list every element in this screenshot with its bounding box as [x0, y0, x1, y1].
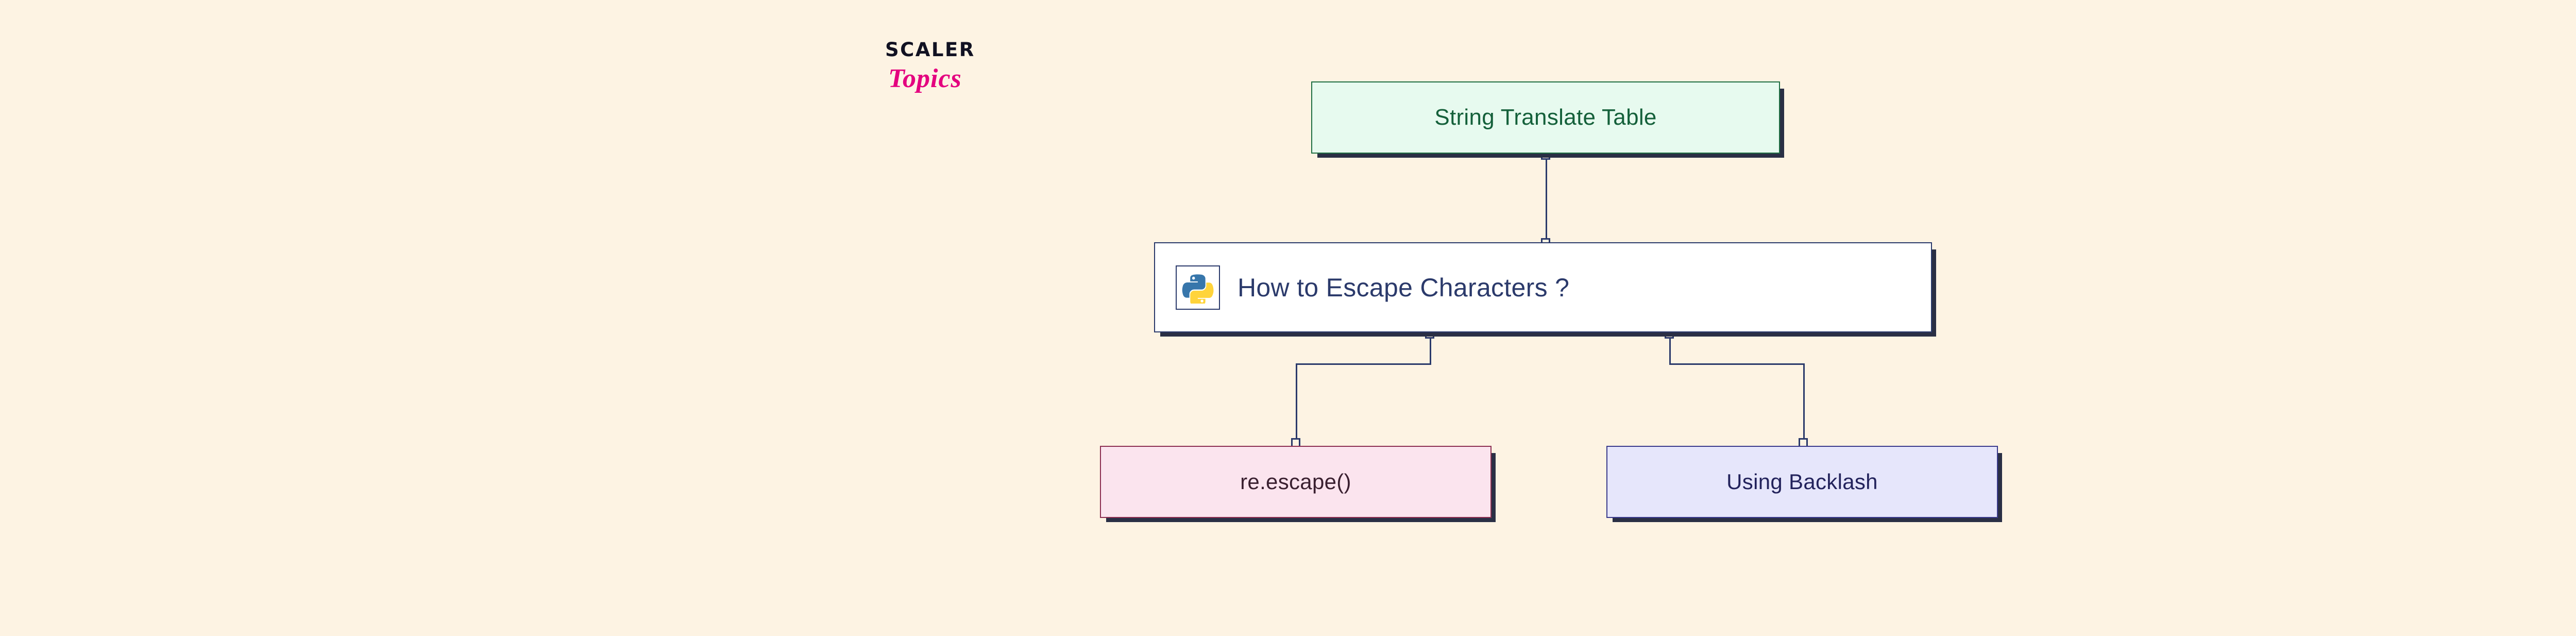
node-escape-label: re.escape()	[1240, 470, 1351, 494]
node-how-to-escape-characters[interactable]: How to Escape Characters ?	[1154, 242, 1932, 332]
node-string-translate-table[interactable]: String Translate Table	[1311, 81, 1780, 154]
shadow-backslash-bottom	[1613, 518, 2002, 522]
shadow-translate-right	[1780, 89, 1784, 158]
diagram-canvas: SCALER Topics String Translate Table How…	[0, 0, 2576, 636]
shadow-escape-bottom	[1106, 518, 1496, 522]
scaler-topics-logo: SCALER Topics	[885, 40, 1050, 107]
shadow-backslash-right	[1998, 453, 2002, 522]
node-main-label: How to Escape Characters ?	[1238, 273, 1569, 303]
edge-main-right-horizontal	[1669, 363, 1805, 365]
python-icon	[1176, 265, 1220, 310]
node-using-backlash[interactable]: Using Backlash	[1606, 446, 1998, 518]
shadow-main-bottom	[1160, 332, 1936, 337]
edge-left-down	[1296, 363, 1297, 446]
logo-brand-text: SCALER	[885, 40, 1050, 59]
node-re-escape[interactable]: re.escape()	[1100, 446, 1492, 518]
node-backslash-label: Using Backlash	[1726, 470, 1878, 494]
shadow-escape-right	[1492, 453, 1496, 522]
shadow-main-right	[1932, 249, 1936, 337]
shadow-translate-bottom	[1317, 154, 1784, 158]
edge-right-down	[1803, 363, 1805, 446]
node-translate-label: String Translate Table	[1434, 105, 1656, 130]
logo-sub-text: Topics	[888, 65, 1050, 92]
edge-main-left-horizontal	[1296, 363, 1431, 365]
edge-translate-to-main	[1546, 154, 1547, 242]
